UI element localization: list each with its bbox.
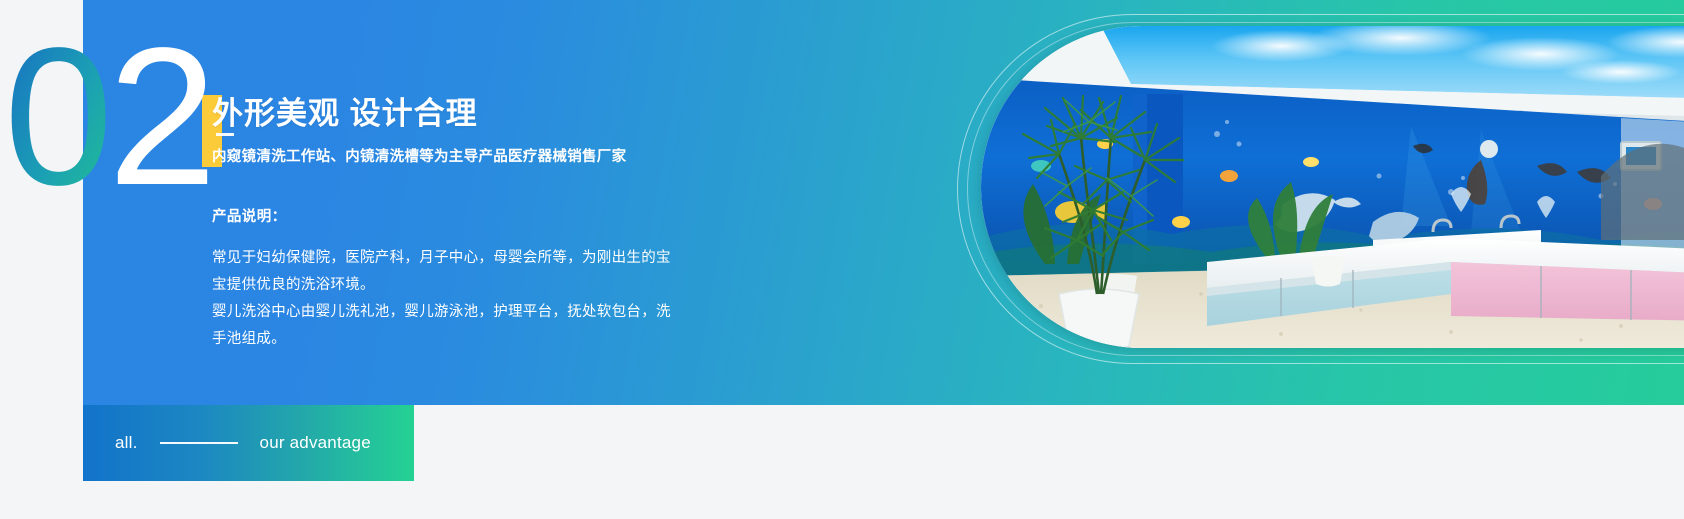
photo-area (943, 0, 1684, 405)
description-body: 常见于妇幼保健院，医院产科，月子中心，母婴会所等，为刚出生的宝 宝提供优良的洗浴… (212, 245, 712, 353)
description-line: 手池组成。 (212, 326, 712, 353)
title-divider (216, 133, 234, 136)
description-line: 宝提供优良的洗浴环境。 (212, 272, 712, 299)
page-subtitle: 内窥镜清洗工作站、内镜清洗槽等为主导产品医疗器械销售厂家 (212, 145, 626, 166)
main-panel: 外形美观 设计合理 内窥镜清洗工作站、内镜清洗槽等为主导产品医疗器械销售厂家 产… (83, 0, 1684, 405)
product-photo (981, 26, 1684, 348)
bottom-bar-right-label: our advantage (260, 433, 371, 453)
bottom-bar-divider (160, 442, 238, 444)
description-line: 婴儿洗浴中心由婴儿洗礼池，婴儿游泳池，护理平台，抚处软包台，洗 (212, 299, 712, 326)
page-title: 外形美观 设计合理 (212, 88, 478, 133)
description-title: 产品说明： (212, 205, 287, 226)
text-column: 外形美观 设计合理 内窥镜清洗工作站、内镜清洗槽等为主导产品医疗器械销售厂家 产… (202, 0, 802, 405)
description-line: 常见于妇幼保健院，医院产科，月子中心，母婴会所等，为刚出生的宝 (212, 245, 712, 272)
bottom-bar-left-label: all. (115, 433, 138, 453)
bottom-bar: all. our advantage (83, 405, 414, 481)
